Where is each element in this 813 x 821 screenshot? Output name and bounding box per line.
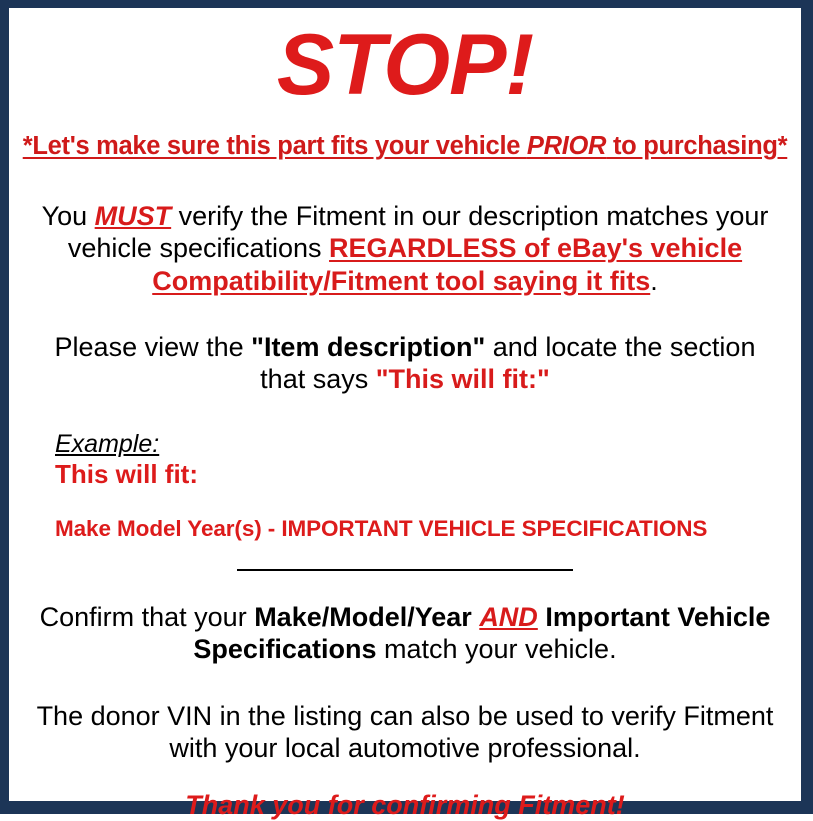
example-label: Example: xyxy=(55,431,795,458)
horizontal-divider xyxy=(237,569,573,571)
subtitle-banner: *Let's make sure this part fits your veh… xyxy=(15,132,795,161)
item-description-emphasis: "Item description" xyxy=(251,332,485,362)
this-will-fit-emphasis: "This will fit:" xyxy=(376,364,550,394)
make-model-year-emphasis: Make/Model/Year xyxy=(254,602,472,632)
must-text-1: You xyxy=(42,201,95,231)
confirm-paragraph: Confirm that your Make/Model/Year AND Im… xyxy=(15,601,795,665)
view-description-paragraph: Please view the "Item description" and l… xyxy=(15,331,795,395)
subtitle-text-after: to purchasing* xyxy=(606,132,787,160)
confirm-text-4: match your vehicle. xyxy=(376,634,616,664)
confirm-text-1: Confirm that your xyxy=(40,602,255,632)
example-spec-line: Make Model Year(s) - IMPORTANT VEHICLE S… xyxy=(55,517,795,542)
fitment-notice-frame: STOP! *Let's make sure this part fits yo… xyxy=(0,0,813,814)
stop-headline: STOP! xyxy=(15,22,795,108)
must-emphasis: MUST xyxy=(95,201,172,231)
example-block: Example: This will fit: Make Model Year(… xyxy=(15,431,795,541)
view-text-1: Please view the xyxy=(55,332,252,362)
subtitle-emphasis-prior: PRIOR xyxy=(527,132,606,160)
divider-wrapper xyxy=(15,569,795,571)
donor-vin-paragraph: The donor VIN in the listing can also be… xyxy=(15,700,795,764)
thank-you-line: Thank you for confirming Fitment! xyxy=(15,790,795,821)
and-emphasis: AND xyxy=(479,602,538,632)
notice-content-area: STOP! *Let's make sure this part fits yo… xyxy=(9,22,801,815)
example-fit-heading: This will fit: xyxy=(55,460,795,489)
subtitle-text-before: *Let's make sure this part fits your veh… xyxy=(23,132,527,160)
must-text-3: . xyxy=(650,266,658,296)
must-verify-paragraph: You MUST verify the Fitment in our descr… xyxy=(15,200,795,296)
